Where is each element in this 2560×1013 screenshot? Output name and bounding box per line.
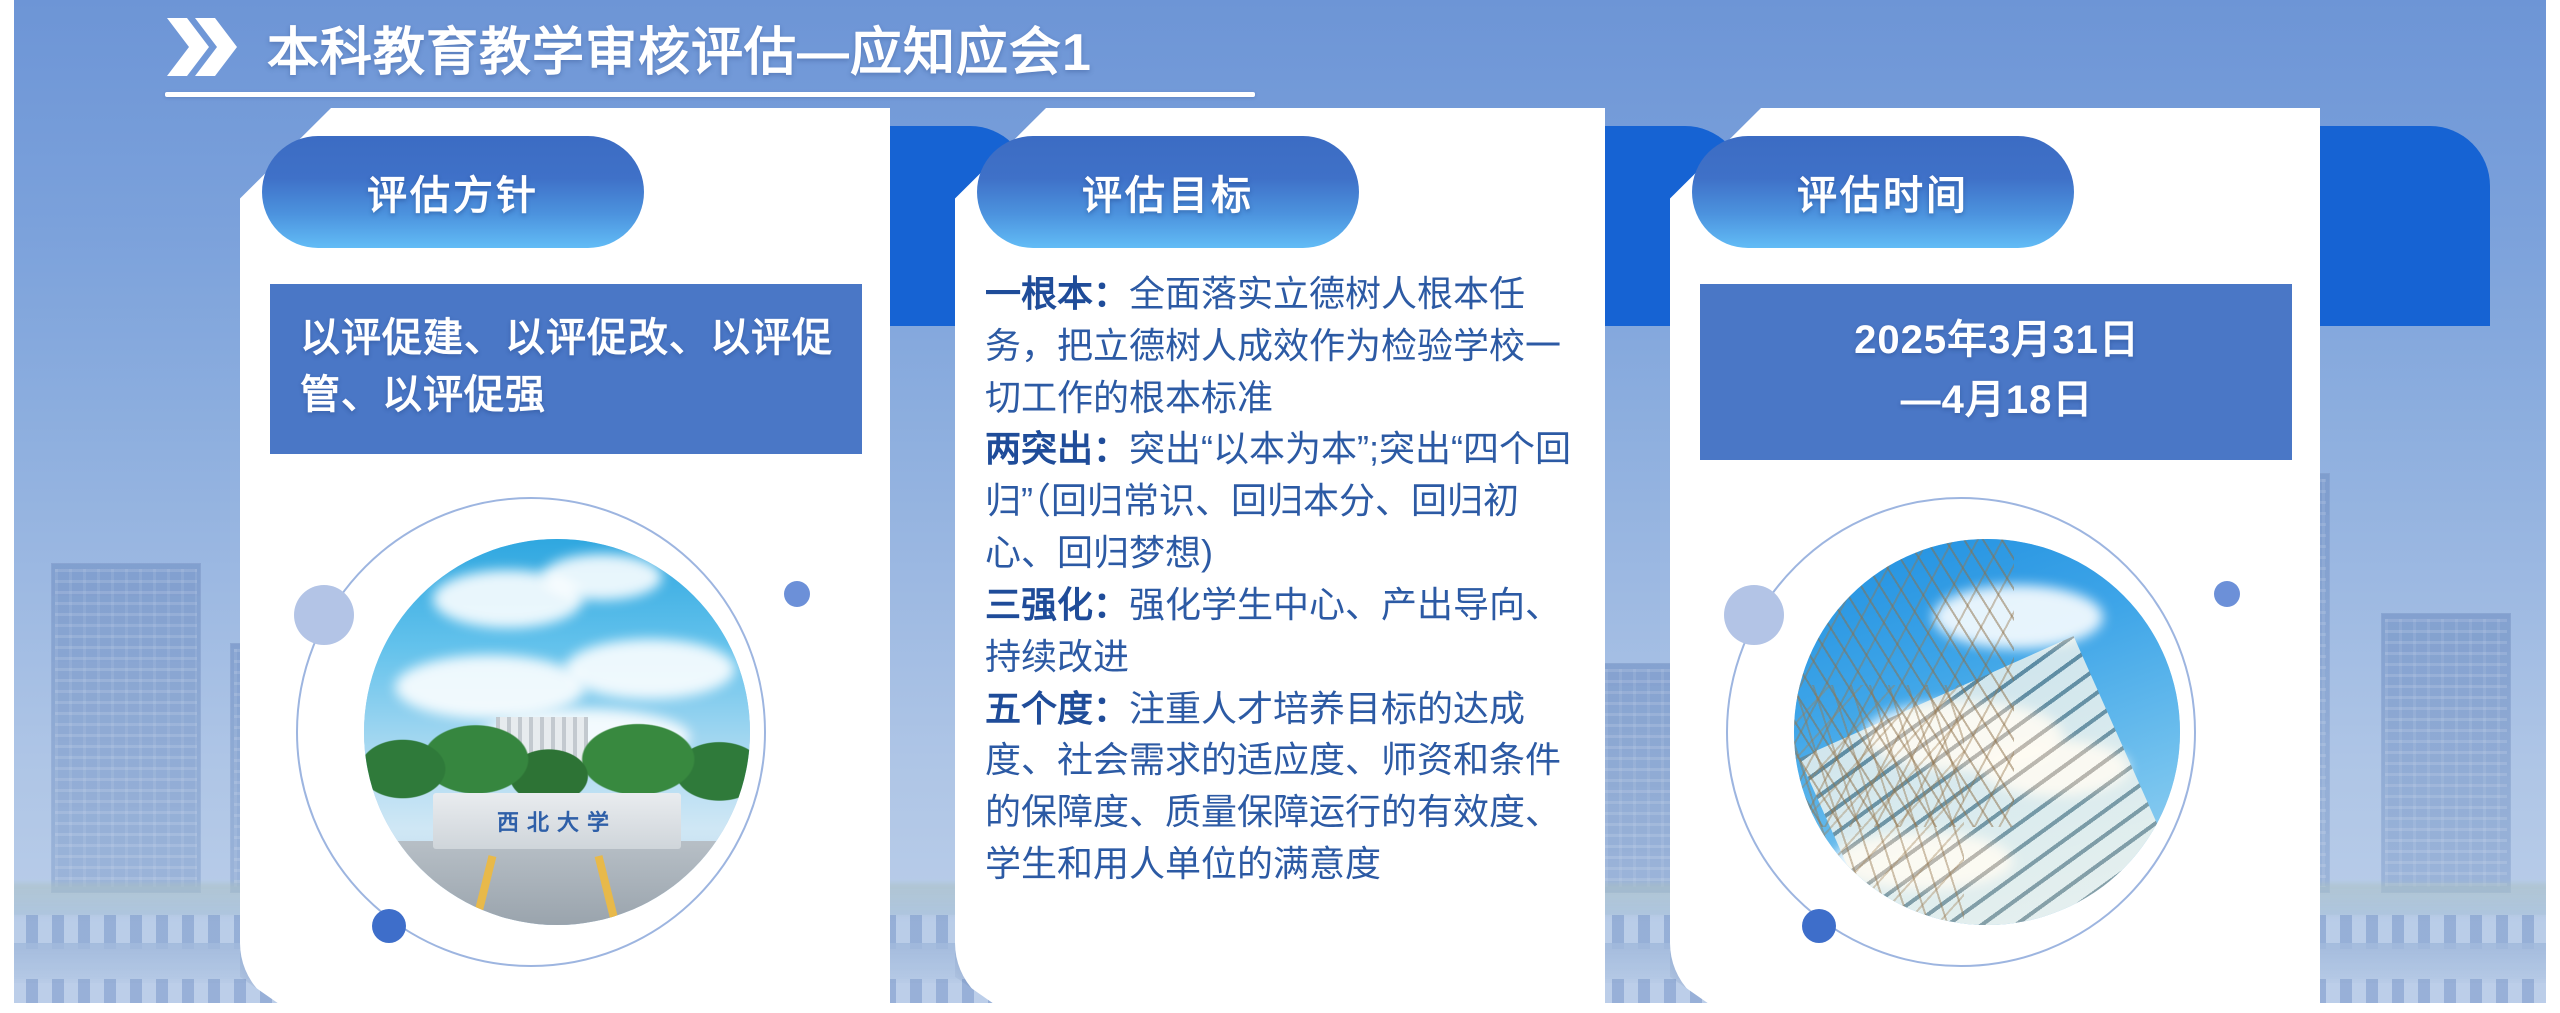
campus-building-photo bbox=[1794, 539, 2180, 925]
orbit-dot-small bbox=[784, 581, 810, 607]
pill-label: 评估目标 bbox=[1082, 163, 1254, 221]
card-pill-policy: 评估方针 bbox=[262, 136, 644, 248]
title-underline bbox=[165, 92, 1255, 97]
orbit-photo-policy: 西北大学 bbox=[286, 497, 846, 967]
goal-item: 三强化：强化学生中心、产出导向、持续改进 bbox=[985, 579, 1585, 683]
policy-panel: 以评促建、以评促改、以评促管、以评促强 bbox=[270, 284, 862, 454]
card-row: 评估方针 以评促建、以评促改、以评促管、以评促强 bbox=[0, 108, 2560, 1013]
pill-label: 评估时间 bbox=[1797, 163, 1969, 221]
date-line-2: —4月18日 bbox=[1854, 370, 2140, 430]
page-header: 本科教育教学审核评估—应知应会1 bbox=[165, 6, 1365, 97]
goal-term: 两突出： bbox=[985, 428, 1129, 469]
card-time[interactable]: 评估时间 2025年3月31日 —4月18日 bbox=[1670, 108, 2320, 1013]
card-pill-goals: 评估目标 bbox=[977, 136, 1359, 248]
page-title: 本科教育教学审核评估—应知应会1 bbox=[267, 10, 1092, 85]
goal-item: 五个度：注重人才培养目标的达成度、社会需求的适应度、师资和条件的保障度、质量保障… bbox=[985, 683, 1585, 890]
goals-text-body: 一根本：全面落实立德树人根本任务，把立德树人成效作为检验学校一切工作的根本标准 … bbox=[985, 268, 1585, 890]
orbit-dot-large bbox=[1724, 585, 1784, 645]
pill-label: 评估方针 bbox=[367, 163, 539, 221]
slide-root: 本科教育教学审核评估—应知应会1 评估方针 以评促建、以评促改、以评促管、以评促… bbox=[0, 0, 2560, 1013]
frame-right-edge bbox=[2546, 0, 2560, 1013]
card-pill-time: 评估时间 bbox=[1692, 136, 2074, 248]
orbit-photo-time bbox=[1716, 497, 2276, 967]
goal-item: 两突出：突出“以本为本”;突出“四个回归”（回归常识、回归本分、回归初心、回归梦… bbox=[985, 423, 1585, 578]
orbit-dot-large bbox=[294, 585, 354, 645]
double-chevron-right-icon bbox=[165, 16, 239, 78]
goal-term: 五个度： bbox=[985, 688, 1129, 729]
date-line-1: 2025年3月31日 bbox=[1854, 310, 2140, 370]
policy-text: 以评促建、以评促改、以评促管、以评促强 bbox=[300, 310, 834, 424]
photo-wall-caption: 西北大学 bbox=[433, 793, 680, 849]
orbit-dot-small bbox=[2214, 581, 2240, 607]
frame-bottom-edge bbox=[0, 1003, 2560, 1013]
card-policy[interactable]: 评估方针 以评促建、以评促改、以评促管、以评促强 bbox=[240, 108, 890, 1013]
frame-left-edge bbox=[0, 0, 14, 1013]
campus-gate-photo: 西北大学 bbox=[364, 539, 750, 925]
goal-item: 一根本：全面落实立德树人根本任务，把立德树人成效作为检验学校一切工作的根本标准 bbox=[985, 268, 1585, 423]
time-panel: 2025年3月31日 —4月18日 bbox=[1700, 284, 2292, 460]
goal-term: 一根本： bbox=[985, 273, 1129, 314]
goal-term: 三强化： bbox=[985, 584, 1129, 625]
card-goals[interactable]: 评估目标 一根本：全面落实立德树人根本任务，把立德树人成效作为检验学校一切工作的… bbox=[955, 108, 1605, 1013]
